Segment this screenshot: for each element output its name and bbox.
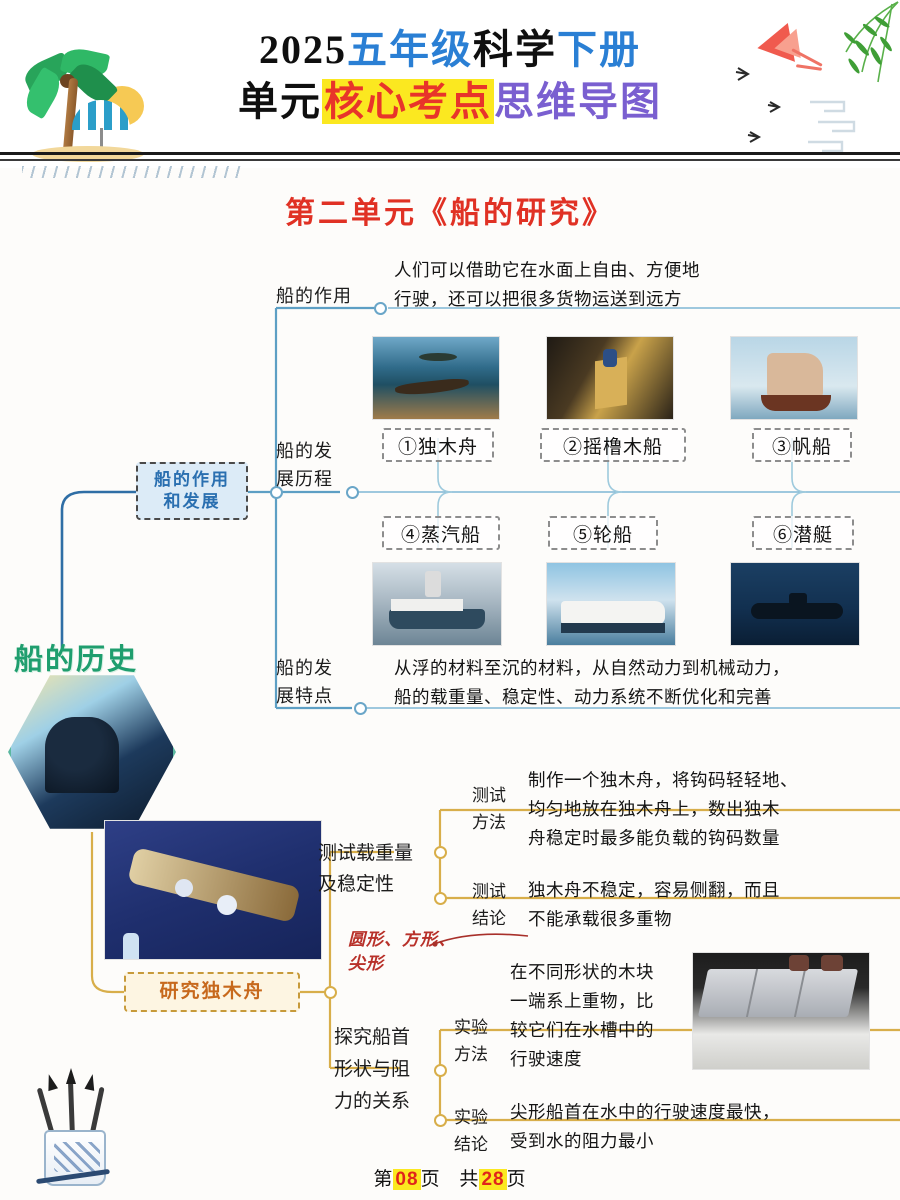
ship-function-line1: 人们可以借助它在水面上自由、方便地 bbox=[394, 256, 894, 285]
experiment-conclusion-content: 尖形船首在水中的行驶速度最快， 受到水的阻力最小 bbox=[510, 1098, 900, 1156]
branch-ship-use-development[interactable]: 船的作用 和发展 bbox=[136, 462, 248, 520]
node-label-development-features: 船的发 展特点 bbox=[276, 654, 348, 710]
branch-label-line1: 船的作用 bbox=[154, 469, 230, 491]
title-year: 2025 bbox=[259, 27, 347, 72]
ship-function-line2: 行驶，还可以把很多货物运送到远方 bbox=[394, 285, 894, 314]
title-map: 导图 bbox=[578, 79, 662, 124]
node-label-test-conclusion: 测试 结论 bbox=[460, 878, 518, 932]
title-core-points: 核心考点 bbox=[322, 79, 494, 124]
stage-box-oar-boat[interactable]: ②摇橹木船 bbox=[540, 428, 686, 462]
footer-page-number: 08 bbox=[393, 1169, 420, 1190]
stage-box-submarine[interactable]: ⑥潜艇 bbox=[752, 516, 854, 550]
ship-function-label: 船的作用 bbox=[276, 286, 352, 306]
test-conclusion-label-line1: 测试 bbox=[460, 878, 518, 905]
dev-features-line2: 船的载重量、稳定性、动力系统不断优化和完善 bbox=[394, 683, 894, 712]
title-line-2: 单元核心考点思维导图 bbox=[0, 76, 900, 128]
node-label-ship-function: 船的作用 bbox=[276, 282, 378, 308]
exp-method-label-line1: 实验 bbox=[442, 1014, 500, 1041]
bow-shape-label-line3: 力的关系 bbox=[334, 1086, 434, 1118]
title-thinking: 思维 bbox=[494, 79, 578, 124]
stage-box-liner[interactable]: ⑤轮船 bbox=[548, 516, 658, 550]
footer-middle: 页 bbox=[421, 1169, 441, 1190]
load-test-label-line2: 及稳定性 bbox=[318, 869, 434, 900]
test-method-label-line1: 测试 bbox=[460, 782, 518, 809]
header-dash-decoration bbox=[22, 166, 242, 178]
test-method-line2: 均匀地放在独木舟上，数出独木 bbox=[528, 795, 898, 824]
footer-total-pages: 28 bbox=[479, 1169, 506, 1190]
exp-conclusion-label-line1: 实验 bbox=[442, 1104, 500, 1131]
photo-canoe bbox=[372, 336, 500, 420]
node-label-load-stability-test: 测试载重量 及稳定性 bbox=[318, 838, 434, 900]
load-test-label-line1: 测试载重量 bbox=[318, 838, 434, 869]
title-grade: 五年级 bbox=[347, 27, 473, 72]
bow-shape-label-line2: 形状与阻 bbox=[334, 1054, 434, 1086]
footer-prefix: 第 bbox=[373, 1169, 393, 1190]
node-label-experiment-method: 实验 方法 bbox=[442, 1014, 500, 1068]
test-method-line3: 舟稳定时最多能负载的钩码数量 bbox=[528, 824, 898, 853]
photo-steamship bbox=[372, 562, 502, 646]
dev-features-label-line1: 船的发 bbox=[276, 654, 348, 682]
bow-shape-label-line1: 探究船首 bbox=[334, 1022, 434, 1054]
stage-box-canoe[interactable]: ①独木舟 bbox=[382, 428, 494, 462]
exp-method-line1: 在不同形状的木块 bbox=[510, 958, 686, 987]
header-divider bbox=[0, 152, 900, 155]
experiment-method-content: 在不同形状的木块 一端系上重物，比 较它们在水槽中的 行驶速度 bbox=[510, 958, 686, 1074]
stage-label-steamship: ④蒸汽船 bbox=[401, 520, 481, 547]
connector-dot-test-method bbox=[434, 892, 447, 905]
dev-history-label-line2: 展历程 bbox=[276, 465, 348, 493]
title-subject: 科学 bbox=[473, 27, 557, 72]
footer-total-prefix: 共 bbox=[459, 1169, 479, 1190]
section-title: 第二单元《船的研究》 bbox=[0, 188, 900, 232]
branch-label-line2: 和发展 bbox=[164, 491, 221, 513]
stage-label-sailing-ship: ③帆船 bbox=[772, 432, 832, 459]
exp-method-label-line2: 方法 bbox=[442, 1041, 500, 1068]
node-label-experiment-conclusion: 实验 结论 bbox=[442, 1104, 500, 1158]
test-conclusion-line1: 独木舟不稳定，容易侧翻，而且 bbox=[528, 876, 898, 905]
footer-suffix: 页 bbox=[507, 1169, 527, 1190]
main-topic-label: 船的历史 bbox=[14, 636, 138, 678]
connector-dot-development-features bbox=[354, 702, 367, 715]
photo-submarine bbox=[730, 562, 860, 646]
header-title: 2025五年级科学下册 单元核心考点思维导图 bbox=[0, 24, 900, 128]
stage-box-steamship[interactable]: ④蒸汽船 bbox=[382, 516, 500, 550]
test-method-label-line2: 方法 bbox=[460, 809, 518, 836]
test-conclusion-line2: 不能承载很多重物 bbox=[528, 905, 898, 934]
dev-features-label-line2: 展特点 bbox=[276, 682, 348, 710]
connector-dot-study-canoe bbox=[324, 986, 337, 999]
test-method-line1: 制作一个独木舟，将钩码轻轻地、 bbox=[528, 766, 898, 795]
exp-method-line3: 较它们在水槽中的 bbox=[510, 1016, 686, 1045]
title-line-1: 2025五年级科学下册 bbox=[0, 24, 900, 76]
page-header: 2025五年级科学下册 单元核心考点思维导图 bbox=[0, 0, 900, 168]
stage-label-submarine: ⑥潜艇 bbox=[773, 520, 833, 547]
stage-box-sailing-ship[interactable]: ③帆船 bbox=[752, 428, 852, 462]
exp-conclusion-line2: 受到水的阻力最小 bbox=[510, 1127, 900, 1156]
stage-label-canoe: ①独木舟 bbox=[398, 432, 478, 459]
ship-function-content: 人们可以借助它在水面上自由、方便地 行驶，还可以把很多货物运送到远方 bbox=[394, 256, 894, 314]
photo-oar-wooden-boat bbox=[546, 336, 674, 420]
exp-conclusion-label-line2: 结论 bbox=[442, 1131, 500, 1158]
test-method-content: 制作一个独木舟，将钩码轻轻地、 均匀地放在独木舟上，数出独木 舟稳定时最多能负载… bbox=[528, 766, 898, 853]
test-conclusion-content: 独木舟不稳定，容易侧翻，而且 不能承载很多重物 bbox=[528, 876, 898, 934]
branch-study-canoe-label: 研究独木舟 bbox=[159, 981, 264, 1003]
photo-canoe-load-test bbox=[104, 820, 322, 960]
page-footer: 第08页 共28页 bbox=[0, 1164, 900, 1191]
dev-features-line1: 从浮的材料至沉的材料，从自然动力到机械动力， bbox=[394, 654, 894, 683]
title-unit: 单元 bbox=[238, 79, 322, 124]
exp-method-line4: 行驶速度 bbox=[510, 1045, 686, 1074]
node-label-development-history: 船的发 展历程 bbox=[276, 437, 348, 493]
exp-method-line2: 一端系上重物，比 bbox=[510, 987, 686, 1016]
photo-liner bbox=[546, 562, 676, 646]
exp-conclusion-line1: 尖形船首在水中的行驶速度最快， bbox=[510, 1098, 900, 1127]
title-volume: 下册 bbox=[557, 27, 641, 72]
stage-label-liner: ⑤轮船 bbox=[573, 520, 633, 547]
node-label-test-method: 测试 方法 bbox=[460, 782, 518, 836]
branch-study-canoe[interactable]: 研究独木舟 bbox=[124, 972, 300, 1012]
stage-label-oar-boat: ②摇橹木船 bbox=[563, 432, 663, 459]
photo-bow-shape-experiment bbox=[692, 952, 870, 1070]
header-divider-secondary bbox=[0, 159, 900, 161]
node-label-bow-shape-resistance: 探究船首 形状与阻 力的关系 bbox=[334, 1022, 434, 1118]
photo-sailing-ship bbox=[730, 336, 858, 420]
connector-dot-load-test bbox=[434, 846, 447, 859]
dev-history-label-line1: 船的发 bbox=[276, 437, 348, 465]
development-features-content: 从浮的材料至沉的材料，从自然动力到机械动力， 船的载重量、稳定性、动力系统不断优… bbox=[394, 654, 894, 712]
mindmap-page: 2025五年级科学下册 单元核心考点思维导图 第二单元《船的研究》 bbox=[0, 0, 900, 1200]
